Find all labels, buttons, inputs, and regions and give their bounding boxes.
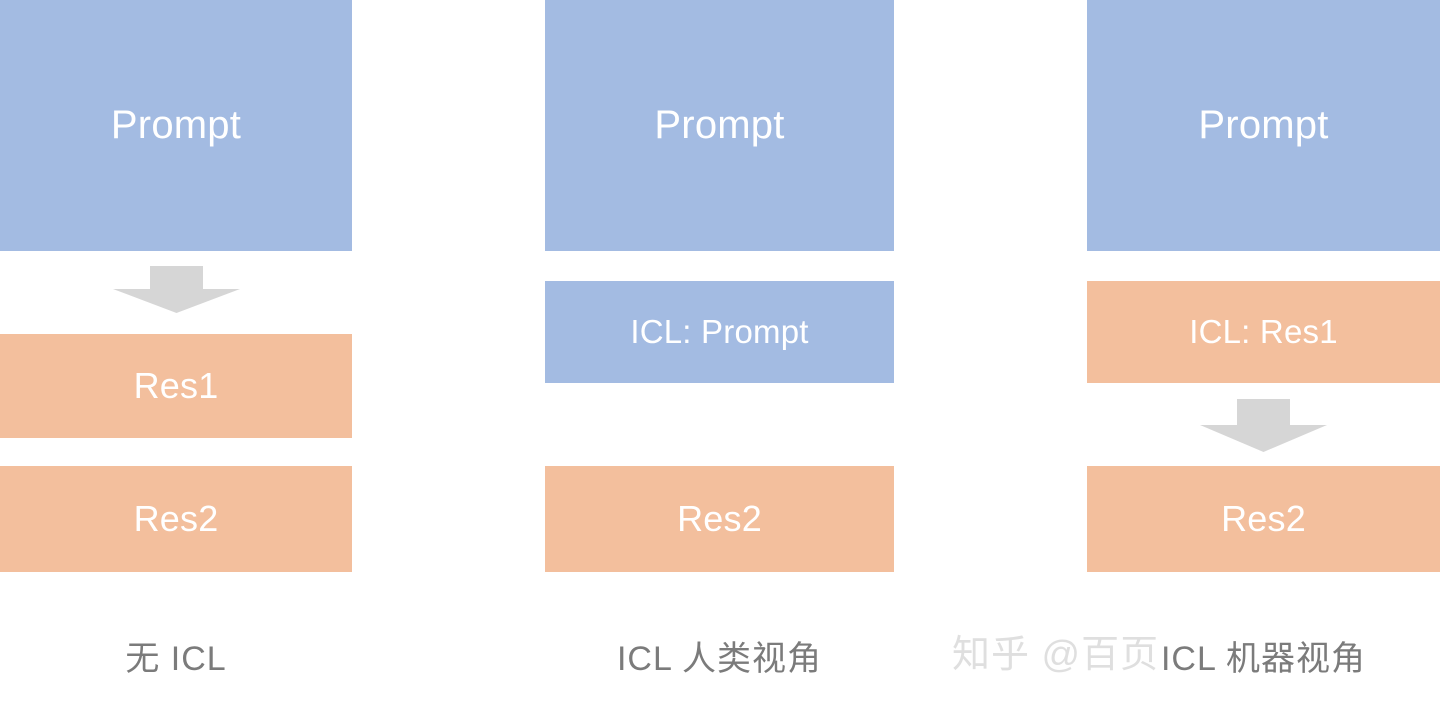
prompt-box: Prompt — [545, 0, 894, 251]
caption-icl-machine-view: ICL 机器视角 — [1087, 625, 1440, 685]
res2-box: Res2 — [1087, 466, 1440, 572]
prompt-box: Prompt — [1087, 0, 1440, 251]
caption-icl-human-view: ICL 人类视角 — [545, 625, 894, 685]
column-icl-human-view: Prompt ICL: Prompt Res2 — [545, 0, 894, 707]
down-arrow-icon — [113, 266, 240, 313]
caption-no-icl: 无 ICL — [0, 625, 352, 685]
column-no-icl: Prompt Res1 Res2 — [0, 0, 352, 707]
res2-box: Res2 — [545, 466, 894, 572]
column-icl-machine-view: Prompt ICL: Res1 Res2 — [1087, 0, 1440, 707]
res1-box: Res1 — [0, 334, 352, 438]
prompt-box: Prompt — [0, 0, 352, 251]
icl-comparison-diagram: Prompt Res1 Res2 Prompt ICL: Prompt Res2… — [0, 0, 1440, 707]
icl-prompt-box: ICL: Prompt — [545, 281, 894, 383]
res2-box: Res2 — [0, 466, 352, 572]
icl-res1-box: ICL: Res1 — [1087, 281, 1440, 383]
